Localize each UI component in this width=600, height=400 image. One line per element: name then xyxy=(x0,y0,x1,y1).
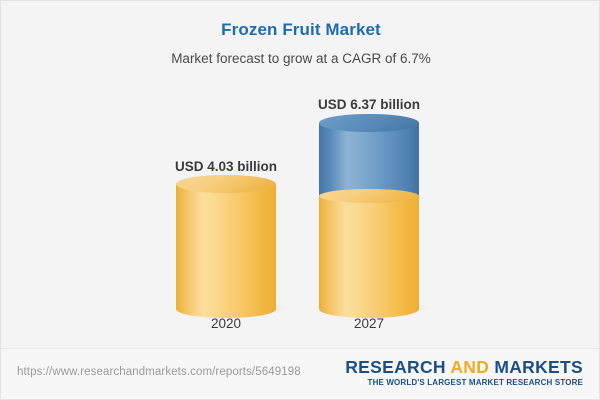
brand-name: RESEARCH AND MARKETS xyxy=(345,357,583,377)
brand-logo[interactable]: RESEARCH AND MARKETS THE WORLD'S LARGEST… xyxy=(345,357,583,387)
x-axis-label-2027: 2027 xyxy=(279,316,459,331)
cylinder-seam-ellipse xyxy=(319,189,419,203)
bar-segment-base-2020 xyxy=(176,184,276,309)
infographic-card: Frozen Fruit Market Market forecast to g… xyxy=(0,0,600,400)
brand-tagline: THE WORLD'S LARGEST MARKET RESEARCH STOR… xyxy=(345,378,583,387)
cylinder-top-ellipse xyxy=(176,175,276,193)
cylinder-body xyxy=(319,196,419,309)
brand-word-research: RESEARCH xyxy=(345,357,446,377)
bar-value-label-2027: USD 6.37 billion xyxy=(279,97,459,112)
bar-segment-growth-2027 xyxy=(319,123,419,196)
brand-word-and: AND xyxy=(450,357,489,377)
cylinder-body xyxy=(319,123,419,196)
footer-bar: https://www.researchandmarkets.com/repor… xyxy=(1,348,599,399)
bar-segment-base-2027 xyxy=(319,196,419,309)
cylinder-bar-2020[interactable] xyxy=(176,184,276,309)
chart-plot-area: USD 4.03 billion 2020 USD 6.37 billion xyxy=(1,1,600,349)
cylinder-bar-2027[interactable] xyxy=(319,123,419,309)
bar-value-label-2020: USD 4.03 billion xyxy=(136,159,316,174)
cylinder-body xyxy=(176,184,276,309)
source-url-link[interactable]: https://www.researchandmarkets.com/repor… xyxy=(17,366,301,378)
brand-word-markets: MARKETS xyxy=(494,357,583,377)
cylinder-top-ellipse xyxy=(319,114,419,132)
